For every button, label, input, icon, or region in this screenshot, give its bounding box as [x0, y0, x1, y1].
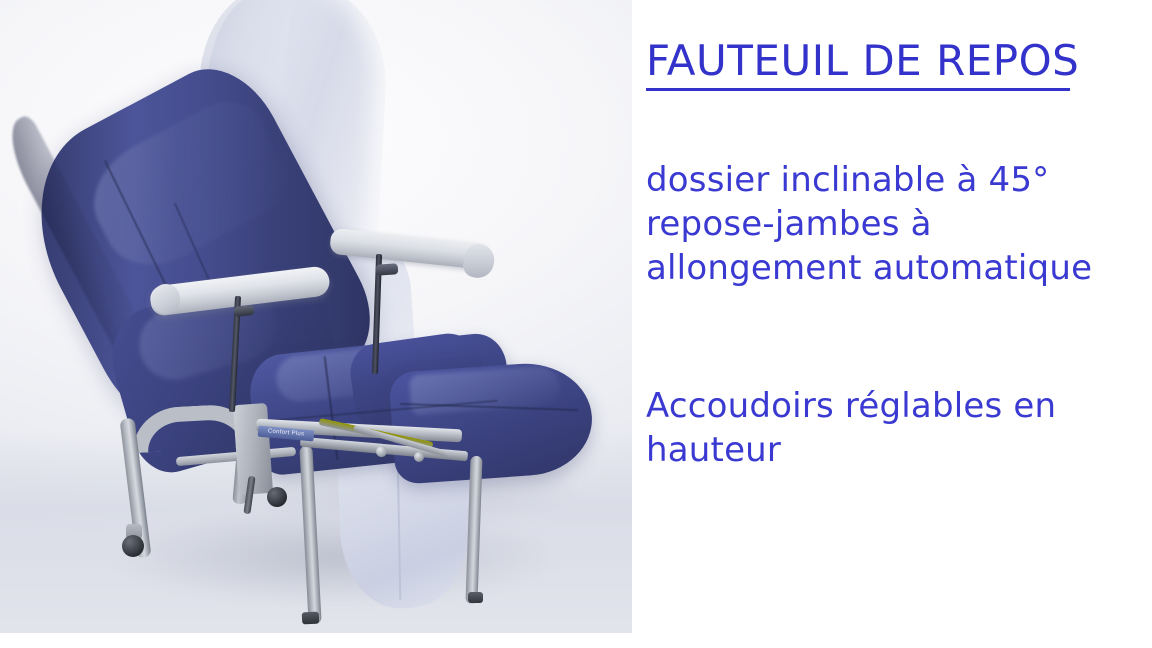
slide-root: Confort Plus FAUTEUIL DE REPOS dossier i…	[0, 0, 1152, 648]
feature-line-backrest-angle: dossier inclinable à 45°	[646, 158, 1136, 202]
mechanism-pivot-1	[376, 446, 387, 457]
foot-right	[468, 592, 483, 603]
feature-line-legrest: repose-jambes à	[646, 202, 1136, 246]
mechanism-pivot-2	[414, 452, 424, 462]
feature-line-armrests-adjustable: Accoudoirs réglables en	[646, 384, 1136, 428]
armrest-far-height-knob	[376, 263, 399, 276]
feature-paragraph-recline: dossier inclinable à 45° repose-jambes à…	[646, 158, 1136, 291]
feature-paragraph-armrests: Accoudoirs réglables en hauteur	[646, 384, 1136, 472]
product-photo: Confort Plus	[0, 0, 632, 633]
photo-shadow-primary	[120, 512, 550, 604]
feature-line-armrests-height: hauteur	[646, 428, 1136, 472]
caster-center-wheel	[267, 487, 287, 507]
feature-line-auto-extension: allongement automatique	[646, 246, 1136, 290]
page-title: FAUTEUIL DE REPOS	[646, 38, 1079, 83]
foot-center	[302, 612, 320, 625]
description-panel: FAUTEUIL DE REPOS dossier inclinable à 4…	[632, 0, 1152, 648]
caster-left-wheel	[122, 535, 144, 557]
page-title-underline	[646, 88, 1070, 91]
